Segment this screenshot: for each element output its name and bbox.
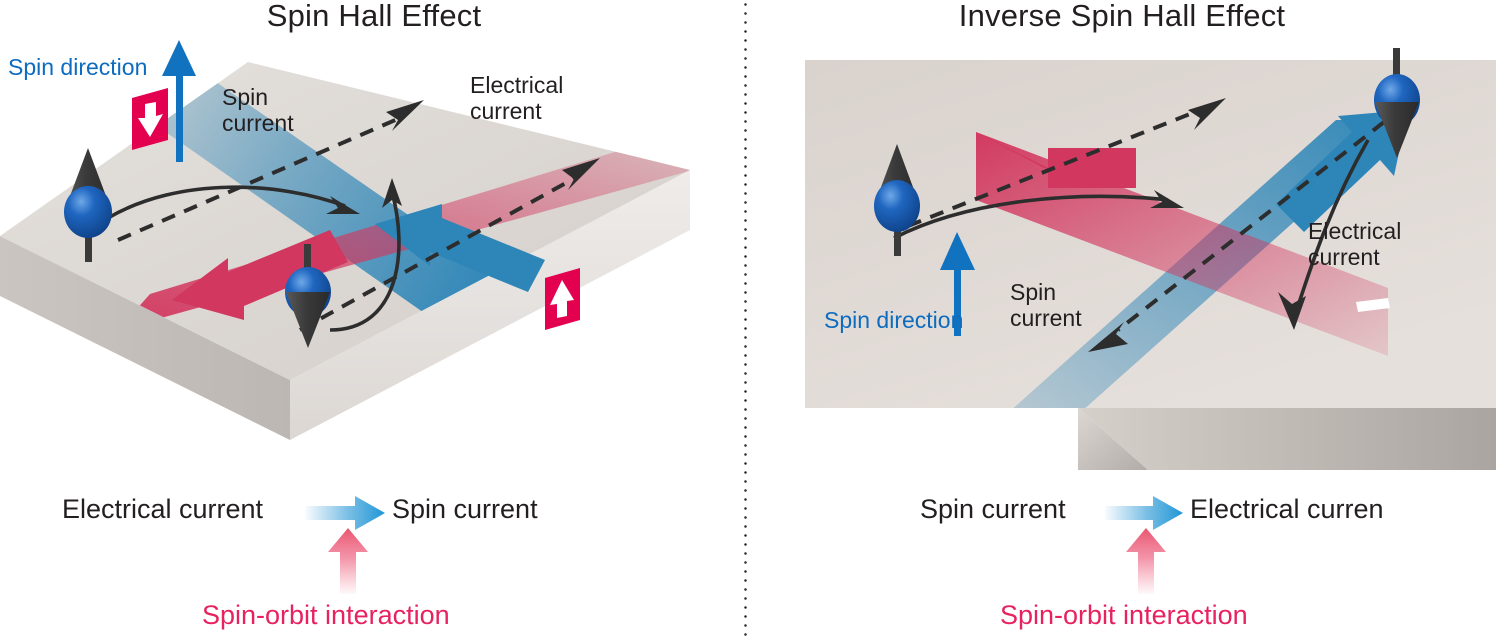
legend-cause-label: Spin-orbit interaction	[1000, 602, 1248, 628]
panel-inverse-spin-hall-effect: Inverse Spin Hall Effect	[748, 0, 1496, 639]
legend-up-arrow-icon	[1126, 528, 1166, 594]
legend-graphics	[748, 0, 1496, 639]
legend-up-arrow-icon	[328, 528, 368, 594]
panel-divider	[744, 0, 747, 639]
panel-spin-hall-effect: Spin Hall Effect	[0, 0, 748, 639]
legend-graphics	[0, 0, 748, 639]
figure-stage: Spin Hall Effect	[0, 0, 1496, 639]
legend-cause-label: Spin-orbit interaction	[202, 602, 450, 628]
legend-right-arrow-icon	[305, 496, 385, 530]
legend-right-arrow-icon	[1105, 496, 1183, 530]
